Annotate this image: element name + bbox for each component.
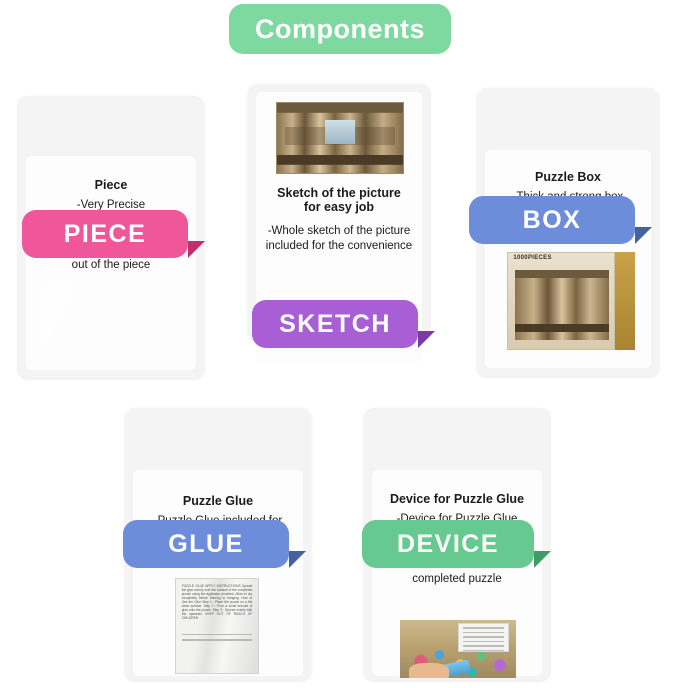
card-tab-fold-device [534, 551, 551, 568]
card-title-piece: Piece [26, 178, 196, 192]
component-card-piece: Piece -Very Precise -High joining betwee… [18, 96, 204, 378]
card-tab-box: BOX [469, 196, 635, 244]
card-title-glue: Puzzle Glue [133, 494, 303, 508]
page-title: Components [255, 14, 425, 45]
card-tab-fold-sketch [418, 331, 435, 348]
glue-pack-instructions: PUZZLE GLUE APPLY INSTRUCTIONS Spread th… [182, 584, 253, 620]
card-tab-label-glue: GLUE [168, 530, 243, 559]
card-tab-label-sketch: SKETCH [279, 310, 391, 339]
glue-spreader-device-photo [400, 620, 516, 678]
card-tab-fold-glue [289, 551, 306, 568]
card-tab-label-box: BOX [523, 206, 582, 235]
card-tab-label-piece: PIECE [64, 220, 147, 249]
puzzle-box-photo: 1000PIECES [507, 252, 635, 350]
puzzle-pieces-bag-photo [46, 286, 176, 358]
component-card-device: Device for Puzzle Glue -Device for Puzzl… [364, 408, 550, 680]
card-tab-glue: GLUE [123, 520, 289, 568]
card-title-sketch: Sketch of the picture for easy job [258, 186, 420, 214]
card-tab-device: DEVICE [362, 520, 534, 568]
page-title-banner: Components [229, 4, 451, 54]
card-tab-fold-box [635, 227, 652, 244]
card-inner-device: Device for Puzzle Glue -Device for Puzzl… [372, 470, 542, 676]
box-piece-count-label: 1000PIECES [513, 255, 551, 261]
card-title-box: Puzzle Box [485, 170, 651, 184]
card-inner-glue: Puzzle Glue -Puzzle Glue included for lo… [133, 470, 303, 676]
card-inner-box: Puzzle Box -Thick and strong box for eas… [485, 150, 651, 368]
component-card-box: Puzzle Box -Thick and strong box for eas… [477, 88, 659, 376]
component-card-glue: Puzzle Glue -Puzzle Glue included for lo… [125, 408, 311, 680]
last-supper-sketch-photo [276, 102, 404, 174]
card-tab-fold-piece [188, 241, 205, 258]
card-inner-piece: Piece -Very Precise -High joining betwee… [26, 156, 196, 370]
card-tab-sketch: SKETCH [252, 300, 418, 348]
card-title-device: Device for Puzzle Glue [372, 492, 542, 506]
card-description-sketch: -Whole sketch of the picture included fo… [258, 224, 420, 254]
card-tab-piece: PIECE [22, 210, 188, 258]
puzzle-glue-sachet-photo: PUZZLE GLUE APPLY INSTRUCTIONS Spread th… [175, 578, 259, 674]
card-tab-label-device: DEVICE [397, 530, 499, 559]
component-card-sketch: Sketch of the picture for easy job -Whol… [248, 84, 430, 340]
